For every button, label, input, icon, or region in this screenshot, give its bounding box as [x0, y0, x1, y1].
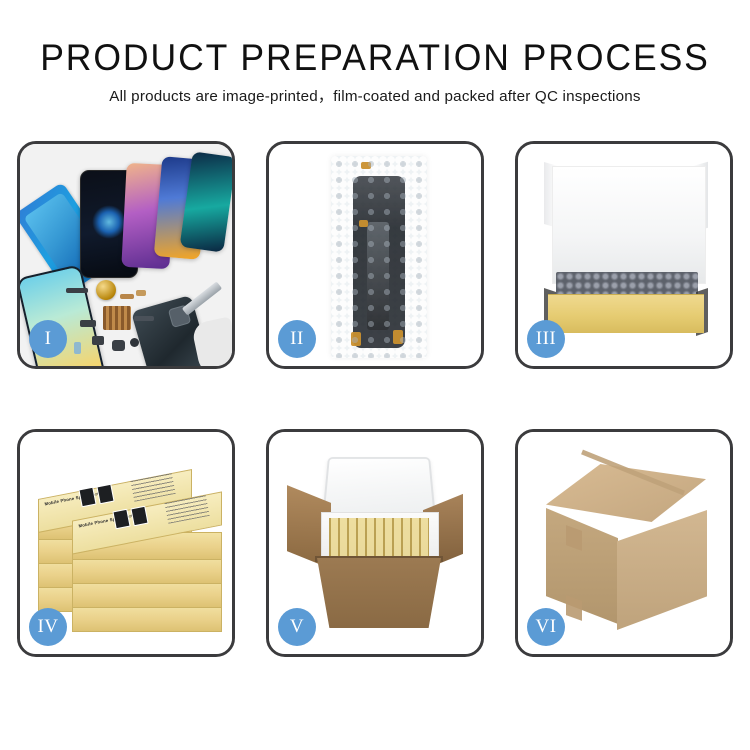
chip-icon	[80, 320, 96, 327]
step-badge-3: III	[527, 320, 565, 358]
flex-cable-icon	[136, 290, 146, 296]
camera-module-icon	[112, 340, 125, 351]
box-window-icon	[78, 487, 96, 508]
step-badge-5: V	[278, 608, 316, 646]
header: PRODUCT PREPARATION PROCESS All products…	[0, 0, 750, 107]
yellow-box-front-icon	[548, 294, 704, 333]
tape-icon	[393, 330, 403, 344]
step-badge-2: II	[278, 320, 316, 358]
bubble-wrap-bag-icon	[331, 156, 427, 358]
box-window-icon	[130, 506, 148, 527]
step-panel-4: Mobile Phone Spare Parts Mobile Phone Sp…	[17, 429, 235, 657]
step-badge-1: I	[29, 320, 67, 358]
button-icon	[130, 338, 139, 347]
page-subtitle: All products are image-printed，film-coat…	[0, 87, 750, 107]
chip-icon	[66, 288, 88, 293]
step-panel-1: I	[17, 141, 235, 369]
box-window-icon	[112, 509, 130, 530]
step-panel-6: VI	[515, 429, 733, 657]
step-panel-3: III	[515, 141, 733, 369]
connector-icon	[134, 316, 154, 321]
yellow-boxes-inside-icon	[329, 518, 429, 556]
chip-icon	[92, 336, 104, 345]
stacked-box-icon	[72, 556, 222, 584]
flex-cable-icon	[120, 294, 134, 299]
tape-icon	[359, 220, 368, 227]
step-badge-4: IV	[29, 608, 67, 646]
step-panel-5: V	[266, 429, 484, 657]
foam-sheet-icon	[552, 166, 706, 284]
speaker-coil-icon	[96, 280, 116, 300]
circuit-board-icon	[103, 306, 131, 330]
sim-tray-icon	[74, 342, 81, 354]
carton-body-icon	[317, 558, 441, 628]
tape-icon	[361, 162, 371, 169]
step-panel-2: II	[266, 141, 484, 369]
stacked-box-icon	[72, 580, 222, 608]
carton-right-face-icon	[617, 510, 707, 630]
stacked-box-icon	[72, 604, 222, 632]
box-window-icon	[96, 484, 114, 505]
page-title: PRODUCT PREPARATION PROCESS	[15, 38, 735, 78]
wrapped-screen-icon	[353, 176, 405, 348]
tape-icon	[351, 332, 361, 346]
product-preparation-infographic: PRODUCT PREPARATION PROCESS All products…	[0, 0, 750, 750]
step-badge-6: VI	[527, 608, 565, 646]
carton-left-face-icon	[546, 508, 618, 624]
steps-grid: I II	[17, 141, 733, 657]
